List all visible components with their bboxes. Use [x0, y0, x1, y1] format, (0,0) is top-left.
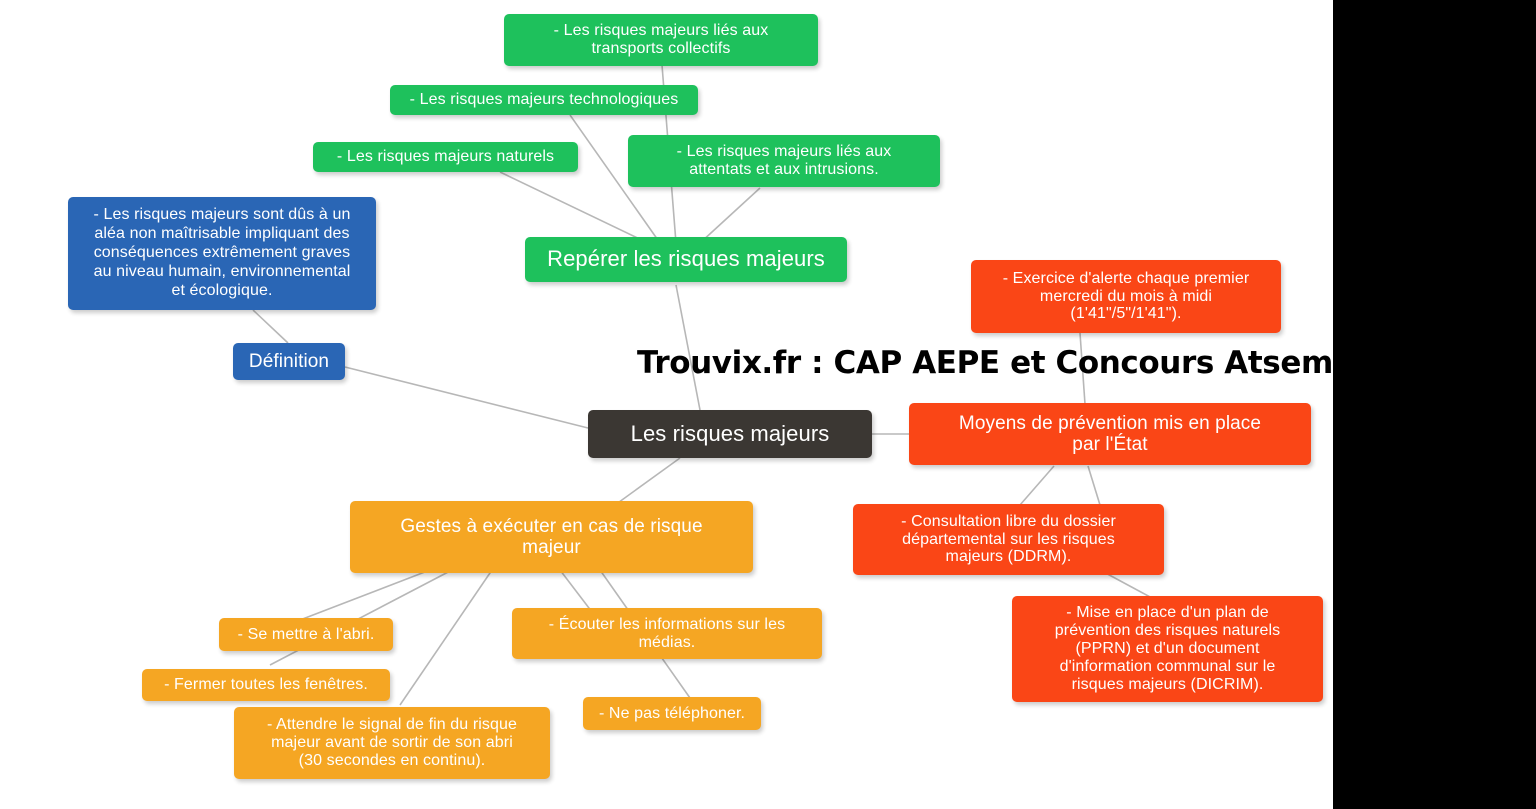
edge-reperer-naturels: [500, 172, 648, 243]
edge-root-gestes: [615, 458, 680, 505]
node-ecouter-informations-medias[interactable]: - Écouter les informations sur les média…: [512, 608, 822, 659]
node-definition-detail[interactable]: - Les risques majeurs sont dûs à un aléa…: [68, 197, 376, 310]
node-risques-transports-collectifs[interactable]: - Les risques majeurs liés aux transport…: [504, 14, 818, 66]
node-root-les-risques-majeurs[interactable]: Les risques majeurs: [588, 410, 872, 458]
node-ne-pas-telephoner[interactable]: - Ne pas téléphoner.: [583, 697, 761, 730]
node-se-mettre-a-labri[interactable]: - Se mettre à l'abri.: [219, 618, 393, 651]
node-consultation-ddrm[interactable]: - Consultation libre du dossier départem…: [853, 504, 1164, 575]
node-attendre-signal-fin[interactable]: - Attendre le signal de fin du risque ma…: [234, 707, 550, 779]
node-risques-technologiques[interactable]: - Les risques majeurs technologiques: [390, 85, 698, 115]
mindmap-canvas: - Les risques majeurs liés aux transport…: [0, 0, 1536, 809]
black-band-overlay: [1333, 0, 1536, 809]
edge-definition-detail: [253, 310, 288, 343]
node-risques-naturels[interactable]: - Les risques majeurs naturels: [313, 142, 578, 172]
watermark-text: Trouvix.fr : CAP AEPE et Concours Atsem: [637, 345, 1333, 381]
node-fermer-fenetres[interactable]: - Fermer toutes les fenêtres.: [142, 669, 390, 701]
node-definition[interactable]: Définition: [233, 343, 345, 380]
edge-moyens-ddrm: [1020, 466, 1054, 505]
edge-gestes-medias: [560, 570, 592, 612]
edge-reperer-attentats: [700, 188, 760, 243]
node-plan-prevention-dicrim[interactable]: - Mise en place d'un plan de prévention …: [1012, 596, 1323, 702]
node-gestes-a-executer[interactable]: Gestes à exécuter en cas de risque majeu…: [350, 501, 753, 573]
edge-root-definition: [345, 367, 596, 430]
node-reperer-risques-majeurs[interactable]: Repérer les risques majeurs: [525, 237, 847, 282]
edge-gestes-attendre: [400, 570, 492, 705]
edge-gestes-abri: [300, 570, 430, 620]
edge-moyens-node: [1088, 466, 1100, 505]
node-risques-attentats-intrusions[interactable]: - Les risques majeurs liés aux attentats…: [628, 135, 940, 187]
node-moyens-prevention-etat[interactable]: Moyens de prévention mis en place par l'…: [909, 403, 1311, 465]
node-exercice-alerte[interactable]: - Exercice d'alerte chaque premier mercr…: [971, 260, 1281, 333]
